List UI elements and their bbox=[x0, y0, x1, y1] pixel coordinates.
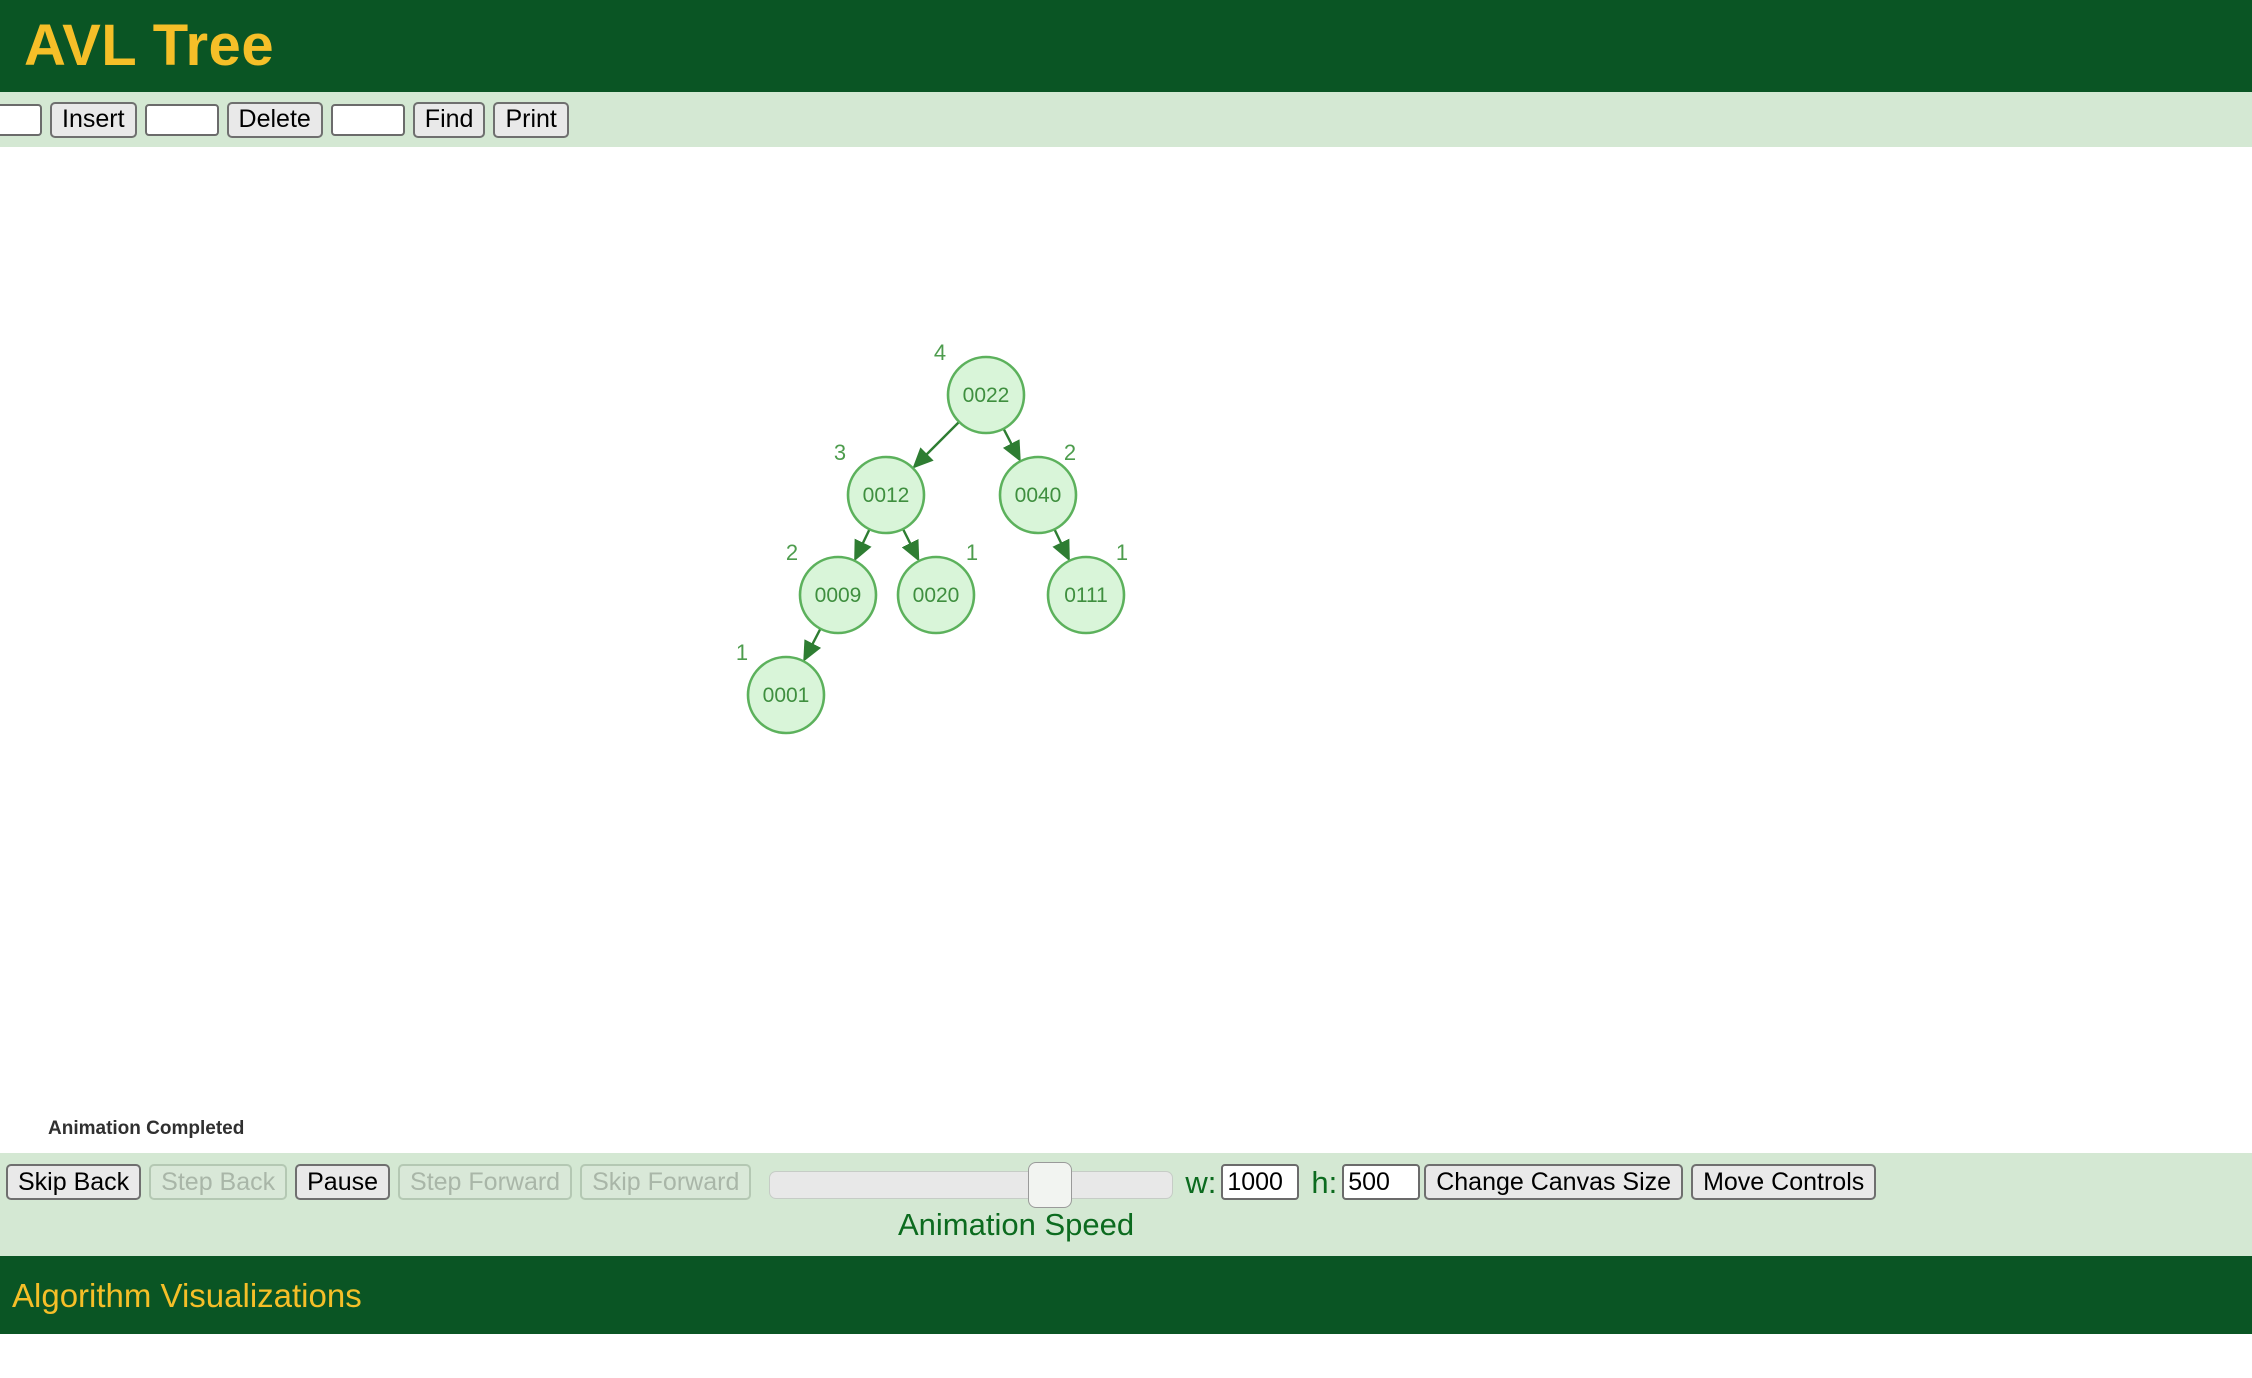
tree-node: 00123 bbox=[834, 440, 924, 533]
avl-tree-graphic: 00224001230040200092002010111100011 bbox=[0, 147, 2252, 1153]
step-forward-button[interactable]: Step Forward bbox=[398, 1164, 572, 1200]
tree-edge bbox=[903, 529, 918, 559]
node-height-label: 1 bbox=[966, 540, 978, 565]
tree-node: 01111 bbox=[1048, 540, 1128, 633]
height-label: h: bbox=[1311, 1167, 1337, 1198]
animation-control-bar: Skip Back Step Back Pause Step Forward S… bbox=[0, 1153, 2252, 1256]
pause-button[interactable]: Pause bbox=[295, 1164, 390, 1200]
step-back-button[interactable]: Step Back bbox=[149, 1164, 287, 1200]
visualization-canvas[interactable]: 00224001230040200092002010111100011 Anim… bbox=[0, 147, 2252, 1153]
tree-node: 00011 bbox=[736, 640, 824, 733]
tree-edge bbox=[804, 629, 820, 660]
find-group: Find bbox=[327, 102, 490, 138]
app-footer: Algorithm Visualizations bbox=[0, 1256, 2252, 1334]
skip-back-button[interactable]: Skip Back bbox=[6, 1164, 141, 1200]
node-value-label: 0022 bbox=[963, 384, 1010, 407]
node-value-label: 0111 bbox=[1064, 584, 1108, 607]
tree-node: 00092 bbox=[786, 540, 876, 633]
move-controls-button[interactable]: Move Controls bbox=[1691, 1164, 1876, 1200]
tree-edge bbox=[1004, 429, 1020, 460]
delete-input[interactable] bbox=[145, 104, 219, 136]
node-value-label: 0020 bbox=[913, 584, 960, 607]
delete-group: Delete bbox=[141, 102, 327, 138]
app-header: AVL Tree bbox=[0, 0, 2252, 92]
node-height-label: 4 bbox=[934, 340, 946, 365]
delete-button[interactable]: Delete bbox=[227, 102, 323, 138]
node-height-label: 3 bbox=[834, 440, 846, 465]
animation-speed-label: Animation Speed bbox=[898, 1207, 1134, 1243]
slider-track[interactable] bbox=[769, 1171, 1173, 1199]
tree-edge bbox=[855, 529, 869, 559]
node-height-label: 1 bbox=[736, 640, 748, 665]
width-label: w: bbox=[1185, 1167, 1216, 1198]
node-height-label: 1 bbox=[1116, 540, 1128, 565]
status-message: Animation Completed bbox=[48, 1118, 244, 1140]
tree-node: 00201 bbox=[898, 540, 978, 633]
tree-nodes: 00224001230040200092002010111100011 bbox=[736, 340, 1128, 733]
tree-node: 00224 bbox=[934, 340, 1024, 433]
tree-edge bbox=[1054, 529, 1068, 559]
node-value-label: 0040 bbox=[1015, 484, 1062, 507]
canvas-width-input[interactable] bbox=[1221, 1164, 1299, 1200]
slider-thumb[interactable] bbox=[1028, 1162, 1072, 1208]
animation-speed-slider[interactable] bbox=[769, 1162, 1173, 1202]
page-title: AVL Tree bbox=[24, 17, 274, 75]
footer-text: Algorithm Visualizations bbox=[12, 1279, 362, 1312]
skip-forward-button[interactable]: Skip Forward bbox=[580, 1164, 751, 1200]
node-height-label: 2 bbox=[1064, 440, 1076, 465]
operations-toolbar: Insert Delete Find Print bbox=[0, 92, 2252, 147]
tree-node: 00402 bbox=[1000, 440, 1076, 533]
insert-group: Insert bbox=[0, 102, 141, 138]
tree-edge bbox=[914, 422, 959, 467]
insert-input[interactable] bbox=[0, 104, 42, 136]
insert-button[interactable]: Insert bbox=[50, 102, 137, 138]
node-value-label: 0001 bbox=[763, 684, 810, 707]
change-canvas-size-button[interactable]: Change Canvas Size bbox=[1424, 1164, 1683, 1200]
canvas-height-input[interactable] bbox=[1342, 1164, 1420, 1200]
node-value-label: 0012 bbox=[863, 484, 910, 507]
node-value-label: 0009 bbox=[815, 584, 862, 607]
find-button[interactable]: Find bbox=[413, 102, 486, 138]
node-height-label: 2 bbox=[786, 540, 798, 565]
find-input[interactable] bbox=[331, 104, 405, 136]
print-button[interactable]: Print bbox=[493, 102, 568, 138]
